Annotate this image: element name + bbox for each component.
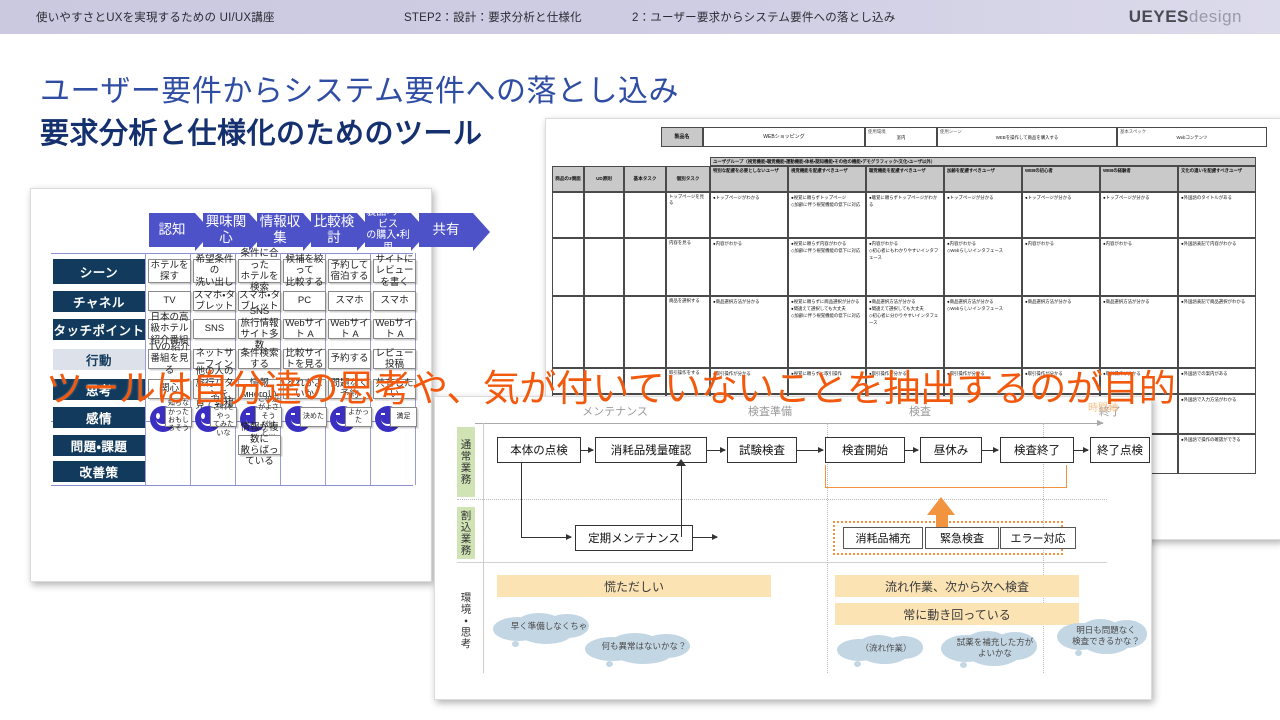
journey-row-label-7: 問題・課題 [53, 435, 145, 456]
journey-phase-4: 比較検討 [311, 213, 357, 247]
blueprint-lane-divider-2 [457, 562, 1107, 563]
matrix-cell: ●外国語のタイトルがある [1178, 192, 1256, 238]
brand-logo: UEYESdesign [1129, 7, 1242, 27]
journey-cell: 希望条件の洗い出し [193, 259, 236, 283]
slide-title-primary: ユーザー要件からシステム要件への落とし込み [40, 66, 679, 110]
journey-cell: PC [283, 291, 326, 311]
journey-cell: SNS旅行情報サイト多数 [238, 319, 281, 339]
overlay-message: ツールは自分達の思考や、気が付いていないことを抽出するのが目的 [46, 358, 1266, 412]
blueprint-env-bar-2: 流れ作業、次から次へ検査 [835, 575, 1079, 597]
blueprint-thought-text-4: 試薬を補充した方がよいかな [943, 637, 1047, 658]
journey-cell: 情報が複数に散らばっている [238, 435, 281, 455]
matrix-cell-individual-task: トップページを見る [666, 192, 710, 238]
header-course-title: 使いやすさとUXを実現するための UI/UX講座 [36, 9, 275, 25]
journey-cell: スマホ [373, 291, 416, 311]
matrix-spacer [552, 157, 710, 166]
matrix-user-column-header: 特別な配慮を必要としないユーザ [710, 166, 788, 192]
cloud-tail [854, 661, 861, 667]
journey-phase-1: 認知 [149, 213, 195, 247]
journey-phase-3: 情報収集 [257, 213, 303, 247]
matrix-cell: ●外国語表記で内容がわかる [1178, 238, 1256, 296]
journey-cell: スマホ・タブレット [193, 291, 236, 311]
matrix-cell: ●トップページが分かる [944, 192, 1022, 238]
blueprint-node-7: 終了点検 [1090, 437, 1150, 463]
blueprint-interrupt-node: 定期メンテナンス [575, 525, 693, 551]
blueprint-node-6: 検査終了 [1000, 437, 1074, 463]
matrix-col-header: 基本タスク [624, 166, 666, 192]
header-step-title: STEP2：設計：要求分析と仕様化 [404, 9, 582, 25]
blueprint-branch-up-h [693, 537, 717, 538]
journey-row-label-3: タッチポイント [53, 319, 145, 340]
blueprint-node-3: 試験検査 [727, 437, 797, 463]
journey-phase-row: 認知興味関心情報収集比較検討製品・サービスの購入・利用共有 [149, 213, 481, 247]
matrix-product-cell: 基本スペックWebコンテンツ [1117, 127, 1267, 147]
blueprint-orange-bracket [825, 465, 1067, 488]
service-blueprint-card: 通常業務割込業務環境・思考メンテナンス検査準備検査終了時間軸本体の点検消耗品残量… [434, 396, 1152, 700]
journey-cell: ホテルを探す [148, 259, 191, 283]
matrix-cell-basic-task [624, 238, 666, 296]
journey-row-label-2: チャネル [53, 291, 145, 312]
blueprint-branch-up-v [681, 465, 682, 537]
logo-bold-text: UEYES [1129, 7, 1189, 26]
matrix-user-column-header: 加齢を配慮すべきユーザ [944, 166, 1022, 192]
matrix-col-header: 商品の3側面 [552, 166, 584, 192]
matrix-cell: ●内容がわかる◇Webらしいインタフェース [944, 238, 1022, 296]
journey-phase-6: 共有 [419, 213, 473, 247]
matrix-user-column-header: 聴覚機能を配慮すべきユーザ [866, 166, 944, 192]
cloud-tail [512, 641, 519, 647]
blueprint-interrupt-item-3: エラー対応 [1000, 527, 1076, 549]
blueprint-branch-down [521, 463, 522, 538]
matrix-product-row: 製品名WEBショッピング使用環境室内使用シーンWEBを操作して商品を購入する基本… [661, 127, 1267, 147]
matrix-product-value: WEBショッピング [703, 127, 865, 147]
header-bar: 使いやすさとUXを実現するための UI/UX講座 STEP2：設計：要求分析と仕… [0, 0, 1280, 34]
blueprint-lane-3: 環境・思考 [457, 567, 475, 675]
matrix-cell: ●内容がわかる [1100, 238, 1178, 296]
matrix-cell: ●内容がわかる [1022, 238, 1100, 296]
journey-cell: TV [148, 291, 191, 311]
matrix-group-header-row: ユーザグループ（視覚機能・聴覚機能・運動機能・体格・認知機能・その他の機能・デモ… [552, 157, 1272, 166]
matrix-column-header-row: 商品の3側面UD原則基本タスク個別タスク特別な配慮を必要としないユーザ視覚機能を… [552, 166, 1272, 192]
blueprint-left-rule [483, 423, 485, 673]
cloud-tail [606, 661, 613, 667]
blueprint-thought-text-1: 早く準備しなくちゃ [497, 621, 601, 632]
blueprint-connector [1074, 450, 1088, 451]
blueprint-node-1: 本体の点検 [497, 437, 581, 463]
journey-cell: 候補を絞って比較する [283, 259, 326, 283]
matrix-cell-aspect [552, 238, 584, 296]
blueprint-node-2: 消耗品残量確認 [595, 437, 707, 463]
blueprint-node-4: 検査開始 [825, 437, 905, 463]
blueprint-interrupt-item-1: 消耗品補充 [843, 527, 923, 549]
matrix-product-value: Webコンテンツ [1120, 135, 1264, 141]
matrix-cell: ●外国語で操作の確認ができる [1178, 434, 1256, 474]
matrix-user-column-header: 文化の違いを配慮すべきユーザ [1178, 166, 1256, 192]
journey-phase-5: 製品・サービスの購入・利用 [365, 213, 411, 247]
matrix-user-column-header: 視覚機能を配慮すべきユーザ [788, 166, 866, 192]
matrix-user-column-header: WEBの初心者 [1022, 166, 1100, 192]
blueprint-env-bar-1: 慌ただしい [497, 575, 771, 597]
cloud-tail [960, 662, 967, 668]
matrix-product-cell: 使用環境室内 [865, 127, 937, 147]
blueprint-connector [707, 450, 725, 451]
blueprint-node-5: 昼休み [920, 437, 982, 463]
journey-cell: スマホ [328, 291, 371, 311]
blueprint-connector [982, 450, 998, 451]
logo-light-text: design [1189, 7, 1242, 26]
blueprint-thought-text-2: 何も異常はないかな？ [587, 641, 701, 652]
matrix-col-header: 個別タスク [666, 166, 710, 192]
cloud-tail [1075, 650, 1082, 656]
blueprint-lane-divider-1 [457, 499, 1107, 501]
matrix-cell: ●トップページが分かる [1100, 192, 1178, 238]
journey-cell: サイトにレビューを書く [373, 259, 416, 283]
blueprint-top-rule [457, 423, 1107, 424]
matrix-col-header: UD原則 [584, 166, 624, 192]
blueprint-lane-1: 通常業務 [457, 427, 475, 497]
service-blueprint: 通常業務割込業務環境・思考メンテナンス検査準備検査終了時間軸本体の点検消耗品残量… [435, 397, 1151, 699]
journey-phase-2: 興味関心 [203, 213, 249, 247]
blueprint-connector [797, 450, 823, 451]
blueprint-env-bar-3: 常に動き回っている [835, 603, 1079, 625]
journey-cell: SNS [193, 319, 236, 339]
journey-cell: 日本の高級ホテル紹介番組 [148, 319, 191, 339]
blueprint-interrupt-item-2: 緊急検査 [925, 527, 999, 549]
matrix-product-row-inner: 製品名WEBショッピング使用環境室内使用シーンWEBを操作して商品を購入する基本… [661, 127, 1267, 147]
matrix-product-cell: 使用シーンWEBを操作して商品を購入する [937, 127, 1117, 147]
matrix-product-value: WEBを操作して商品を購入する [940, 135, 1114, 141]
journey-row-label-1: シーン [53, 259, 145, 284]
journey-row-label-8: 改善策 [53, 461, 145, 482]
matrix-cell-basic-task [624, 192, 666, 238]
blueprint-thought-text-3: （流れ作業） [839, 643, 933, 654]
journey-cell: Webサイト A [373, 319, 416, 339]
matrix-user-column-header: WEBの経験者 [1100, 166, 1178, 192]
blueprint-branch-right [521, 537, 571, 538]
matrix-cell-individual-task: 内容を見る [666, 238, 710, 296]
matrix-cell: ●トップページが分かる [1022, 192, 1100, 238]
journey-cell: Webサイト A [283, 319, 326, 339]
journey-cell: 条件に合ったホテルを検索 [238, 259, 281, 283]
matrix-cell-aspect [552, 192, 584, 238]
journey-divider-bottom [51, 485, 413, 486]
matrix-product-value: 室内 [868, 135, 934, 141]
matrix-cell: ●トップページがわかる [710, 192, 788, 238]
matrix-cell-principle [584, 192, 624, 238]
matrix-cell: ●内容がわかる◇初心者にもわかりやすいインタフェース [866, 238, 944, 296]
matrix-cell: ●視覚に頼らず内容がわかる◇加齢に伴う視覚機能の低下に対応 [788, 238, 866, 296]
matrix-group-header: ユーザグループ（視覚機能・聴覚機能・運動機能・体格・認知機能・その他の機能・デモ… [710, 157, 1256, 166]
blueprint-lane-2: 割込業務 [457, 507, 475, 559]
matrix-product-label: 製品名 [661, 127, 703, 147]
matrix-cell: ●内容がわかる [710, 238, 788, 296]
journey-cell: 予約して宿泊する [328, 259, 371, 283]
matrix-cell-principle [584, 238, 624, 296]
blueprint-connector [905, 450, 918, 451]
slide-title-secondary: 要求分析と仕様化のためのツール [40, 110, 483, 152]
matrix-cell: ●聴覚に頼らずトップページがわかる [866, 192, 944, 238]
matrix-row: 内容を見る●内容がわかる●視覚に頼らず内容がわかる◇加齢に伴う視覚機能の低下に対… [552, 238, 1272, 296]
matrix-cell: ●視覚に頼らずトップページ◇加齢に伴う視覚機能の低下に対応 [788, 192, 866, 238]
header-section-title: 2：ユーザー要求からシステム要件への落とし込み [632, 9, 895, 25]
blueprint-branch-up-arrow [676, 459, 686, 466]
journey-cell: Webサイト A [328, 319, 371, 339]
matrix-row: トップページを見る●トップページがわかる●視覚に頼らずトップページ◇加齢に伴う視… [552, 192, 1272, 238]
blueprint-thought-text-5: 明日も問題なく検査できるかな？ [1057, 625, 1155, 646]
blueprint-connector [581, 450, 593, 451]
